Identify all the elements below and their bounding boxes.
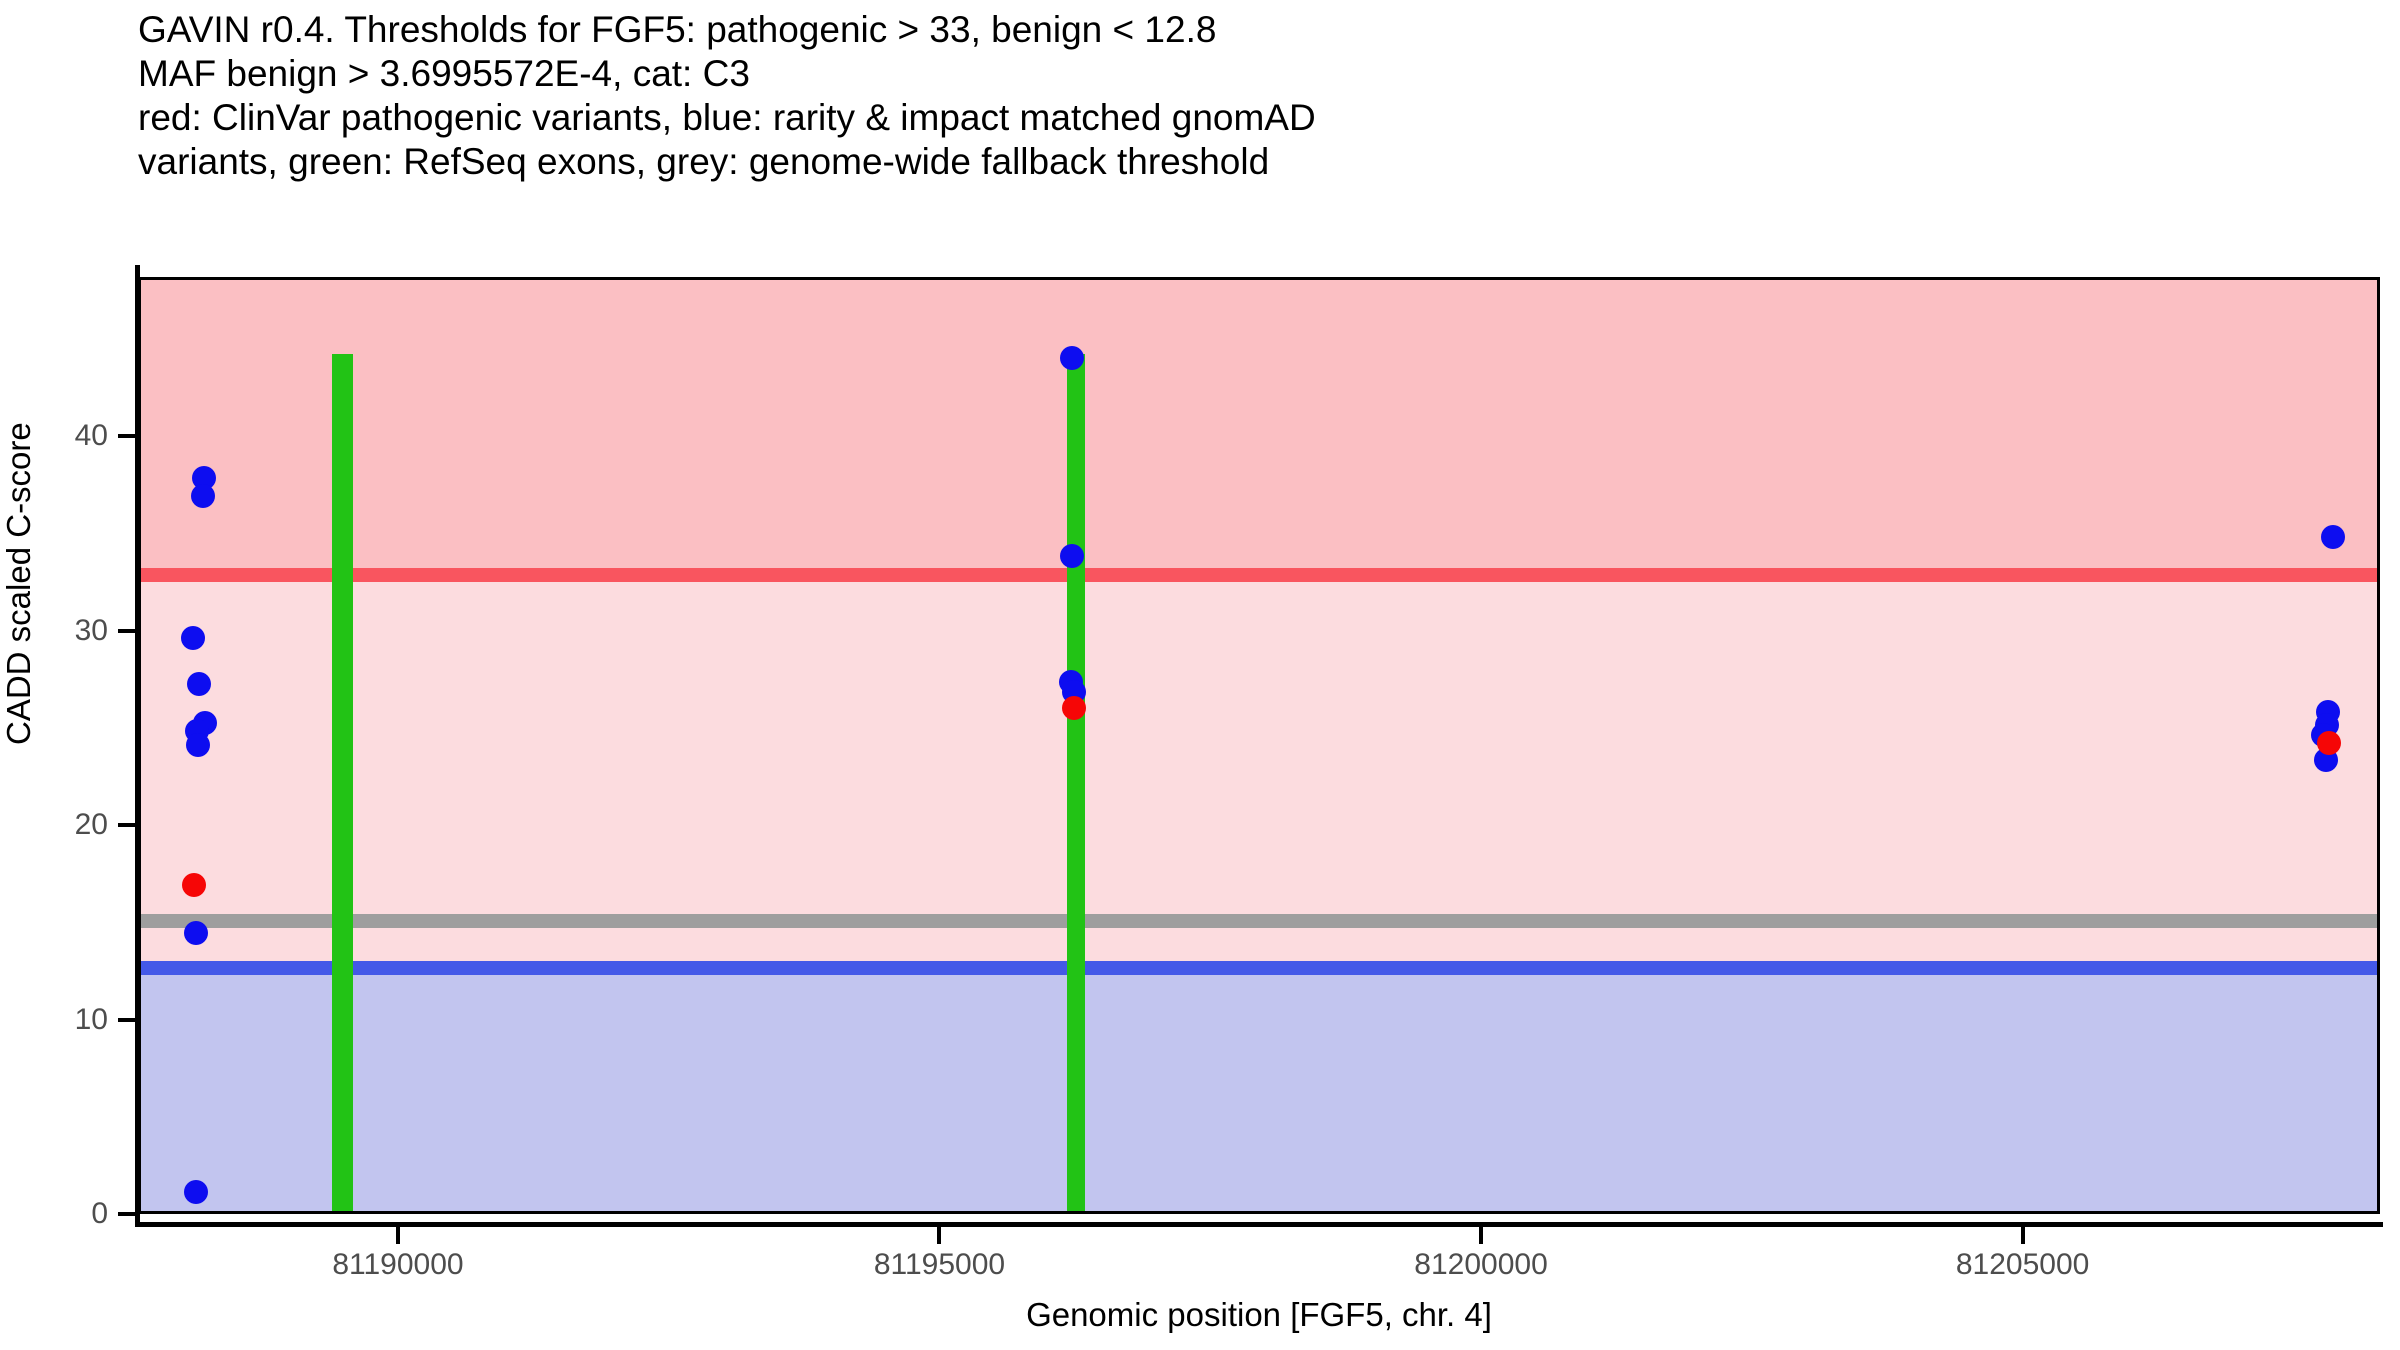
y-tick-label: 10 (40, 1003, 108, 1037)
plot-panel (138, 277, 2380, 1214)
gnomad-variant-point (181, 626, 205, 650)
gnomad-variant-point (191, 484, 215, 508)
y-tick (118, 629, 135, 633)
y-tick-label: 0 (40, 1197, 108, 1231)
x-tick (1479, 1227, 1483, 1244)
x-tick-label: 81190000 (332, 1248, 463, 1282)
x-tick-label: 81200000 (1414, 1248, 1547, 1282)
chart-page: GAVIN r0.4. Thresholds for FGF5: pathoge… (0, 0, 2400, 1350)
chart-title-block: GAVIN r0.4. Thresholds for FGF5: pathoge… (138, 8, 2338, 184)
y-axis-line (135, 265, 140, 1225)
clinvar-variant-point (2317, 731, 2341, 755)
x-tick-label: 81205000 (1956, 1248, 2089, 1282)
plot-area (141, 280, 2377, 1211)
gnomad-variant-point (2321, 525, 2345, 549)
gnomad-variant-point (187, 672, 211, 696)
y-tick-label: 40 (40, 419, 108, 453)
gnomad-variant-point (184, 1180, 208, 1204)
exon-marker (332, 354, 354, 1214)
title-line-1: GAVIN r0.4. Thresholds for FGF5: pathoge… (138, 8, 2338, 52)
gnomad-variant-point (184, 921, 208, 945)
x-axis-line (135, 1222, 2383, 1227)
y-axis-title: CADD scaled C-score (0, 422, 38, 745)
x-tick (937, 1227, 941, 1244)
vous-region (141, 575, 2377, 968)
y-tick (118, 1018, 135, 1022)
x-axis-title: Genomic position [FGF5, chr. 4] (138, 1296, 2380, 1334)
title-line-2: MAF benign > 3.6995572E-4, cat: C3 (138, 52, 2338, 96)
y-tick (118, 434, 135, 438)
y-tick-label: 20 (40, 808, 108, 842)
pathogenic-threshold-line (141, 568, 2377, 582)
x-tick (396, 1227, 400, 1244)
gnomad-variant-point (1060, 346, 1084, 370)
y-tick (118, 1212, 135, 1216)
clinvar-variant-point (182, 873, 206, 897)
clinvar-variant-point (1062, 696, 1086, 720)
gnomad-variant-point (186, 733, 210, 757)
pathogenic-region (141, 280, 2377, 575)
x-tick (2021, 1227, 2025, 1244)
genome-wide-fallback-line (141, 914, 2377, 928)
title-line-4: variants, green: RefSeq exons, grey: gen… (138, 140, 2338, 184)
benign-region (141, 968, 2377, 1214)
y-tick (118, 823, 135, 827)
benign-threshold-line (141, 961, 2377, 975)
x-tick-label: 81195000 (874, 1248, 1005, 1282)
y-tick-label: 30 (40, 614, 108, 648)
exon-marker (1067, 354, 1085, 1214)
gnomad-variant-point (1060, 544, 1084, 568)
title-line-3: red: ClinVar pathogenic variants, blue: … (138, 96, 2338, 140)
